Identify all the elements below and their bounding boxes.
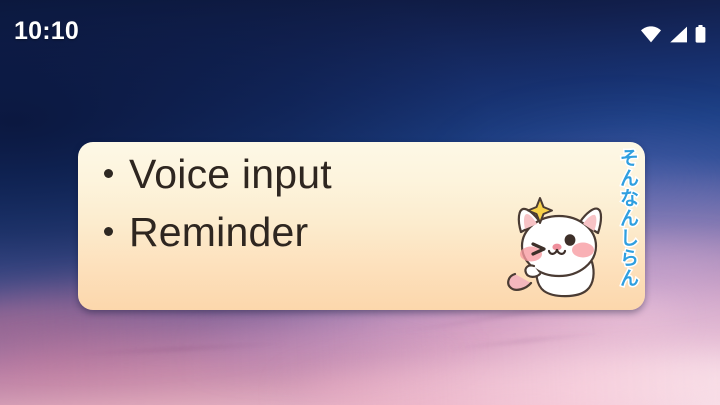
sticker-caption: そんなんしらん: [599, 148, 637, 288]
list-item-label: Reminder: [129, 212, 308, 253]
status-bar: 10:10: [0, 0, 720, 58]
wifi-icon: [640, 26, 662, 43]
list-item-label: Voice input: [129, 154, 332, 195]
bullet-dot-icon: [104, 169, 113, 178]
battery-icon: [695, 25, 706, 43]
list-item[interactable]: Reminder: [104, 212, 332, 270]
list-item[interactable]: Voice input: [104, 154, 332, 212]
phone-screen: 10:10: [0, 0, 720, 405]
bullet-dot-icon: [104, 227, 113, 236]
status-bar-icons: [640, 21, 706, 43]
cellular-signal-icon: [669, 26, 688, 43]
status-bar-clock: 10:10: [14, 17, 79, 46]
notification-bullet-list: Voice input Reminder: [104, 154, 332, 270]
notification-card[interactable]: Voice input Reminder: [78, 142, 645, 310]
